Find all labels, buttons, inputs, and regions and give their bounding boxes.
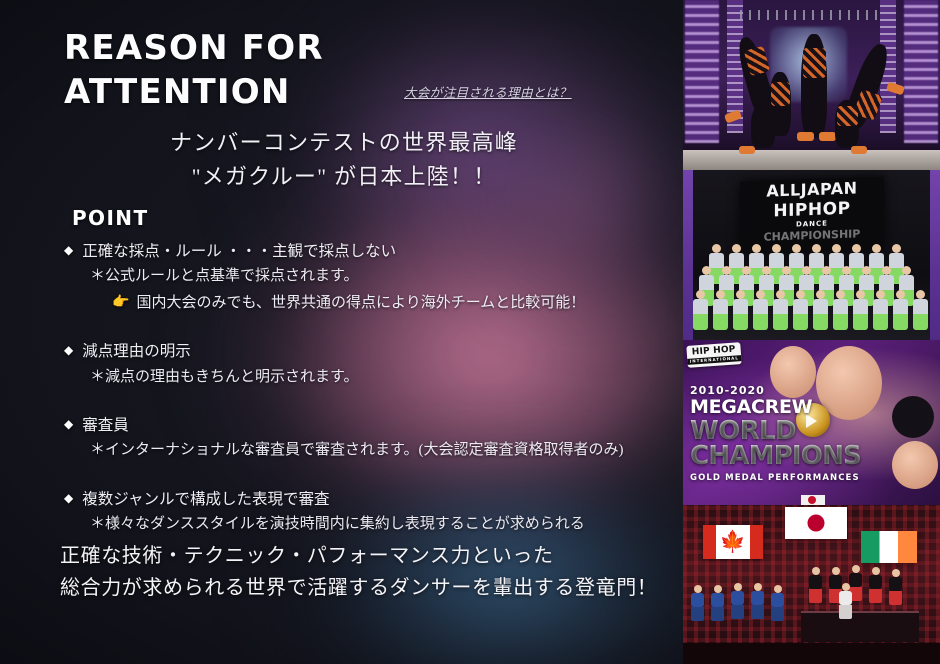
dancer-shirt bbox=[837, 106, 858, 126]
page-title-line1: REASON FOR bbox=[64, 28, 324, 68]
slide-root: REASON FOR ATTENTION 大会が注目される理由とは？ ナンバーコ… bbox=[0, 0, 940, 664]
lead-headline-line1: ナンバーコンテストの世界最高峰 bbox=[64, 126, 624, 160]
point-item-head: ◆ 正確な採点・ルール ・・・主観で採点しない bbox=[64, 240, 674, 263]
point-item-note-text: 国内大会のみでも、世界共通の得点により海外チームと比較可能！ bbox=[136, 292, 585, 315]
lead-headline: ナンバーコンテストの世界最高峰 "メガクルー" が日本上陸！！ bbox=[64, 126, 624, 194]
photo-stage-crew-performance bbox=[683, 0, 940, 170]
point-list: ◆ 正確な採点・ルール ・・・主観で採点しない ＊公式ルールと点基準で採点されま… bbox=[64, 240, 674, 556]
team-member bbox=[873, 290, 888, 330]
diamond-bullet-icon: ◆ bbox=[64, 240, 73, 261]
video-line-megacrew: MEGACREW bbox=[690, 398, 861, 418]
led-panel-right bbox=[904, 0, 938, 143]
team-member-red bbox=[869, 567, 882, 603]
team-member bbox=[813, 290, 828, 330]
canada-flag: 🍁 bbox=[703, 525, 763, 559]
celebrating-dancer-face bbox=[892, 441, 938, 489]
video-line-champions: CHAMPIONS bbox=[690, 444, 861, 469]
team-member bbox=[793, 290, 808, 330]
diamond-bullet-icon: ◆ bbox=[64, 340, 73, 361]
team-member bbox=[693, 290, 708, 330]
video-line-gold-medal: GOLD MEDAL PERFORMANCES bbox=[690, 473, 861, 483]
team-member bbox=[713, 290, 728, 330]
team-member bbox=[913, 290, 928, 330]
side-light-right bbox=[930, 170, 940, 340]
team-member bbox=[853, 290, 868, 330]
team-member bbox=[773, 290, 788, 330]
team-member-blue bbox=[711, 585, 724, 621]
point-item-head-text: 正確な採点・ルール ・・・主観で採点しない bbox=[82, 240, 396, 263]
video-title-block: 2010-2020 MEGACREW WORLD CHAMPIONS GOLD … bbox=[690, 384, 861, 483]
dark-circle-overlay bbox=[892, 396, 934, 438]
point-item: ◆ 審査員 ＊インターナショナルな審査員で審査されます。(大会認定審査資格取得者… bbox=[64, 414, 674, 462]
team-member bbox=[893, 290, 908, 330]
photo-column: ALLJAPAN HIPHOP DANCE CHAMPIONSHIP bbox=[683, 0, 940, 664]
lead-headline-line2: "メガクルー" が日本上陸！！ bbox=[64, 160, 624, 194]
point-item-head-text: 複数ジャンルで構成した表現で審査 bbox=[82, 488, 329, 511]
point-item-head: ◆ 減点理由の明示 bbox=[64, 340, 674, 363]
point-item-sub: ＊様々なダンススタイルを演技時間内に集約し表現することが求められる bbox=[90, 513, 674, 536]
diamond-bullet-icon: ◆ bbox=[64, 488, 73, 509]
dancer-figure bbox=[751, 104, 775, 148]
photo-awards-podium-flags: 🍁 bbox=[683, 505, 940, 664]
team-member-red bbox=[889, 569, 902, 605]
point-item-head: ◆ 審査員 bbox=[64, 414, 674, 437]
led-panel-left bbox=[685, 0, 719, 143]
team-member-blue bbox=[691, 585, 704, 621]
point-item-note: 👉 国内大会のみでも、世界共通の得点により海外チームと比較可能！ bbox=[112, 292, 674, 315]
dancer-shirt bbox=[771, 82, 790, 106]
japan-flag bbox=[785, 507, 847, 539]
team-member-blue bbox=[751, 583, 764, 619]
maple-leaf-icon: 🍁 bbox=[720, 532, 746, 553]
closing-line1: 正確な技術・テクニック・パフォーマンス力といった bbox=[60, 540, 680, 572]
dancer-shoe bbox=[797, 132, 814, 141]
stage-truss bbox=[740, 10, 884, 20]
point-item-head: ◆ 複数ジャンルで構成した表現で審査 bbox=[64, 488, 674, 511]
stage-floor bbox=[683, 150, 940, 170]
championship-banner-text: ALLJAPAN HIPHOP DANCE CHAMPIONSHIP bbox=[740, 178, 884, 245]
ireland-flag bbox=[861, 531, 917, 563]
closing-line2: 総合力が求められる世界で活躍するダンサーを輩出する登竜門！ bbox=[60, 572, 680, 604]
hip-hop-international-logo: HIP HOP INTERNATIONAL bbox=[686, 342, 741, 368]
team-member bbox=[753, 290, 768, 330]
japan-flag-disc-icon bbox=[808, 515, 825, 532]
page-subtitle: 大会が注目される理由とは？ bbox=[404, 82, 572, 101]
side-light-left bbox=[683, 170, 693, 340]
team-member-blue bbox=[771, 585, 784, 621]
point-item-sub: ＊減点の理由もきちんと明示されます。 bbox=[90, 366, 674, 389]
team-member-red bbox=[809, 567, 822, 603]
diamond-bullet-icon: ◆ bbox=[64, 414, 73, 435]
closing-statement: 正確な技術・テクニック・パフォーマンス力といった 総合力が求められる世界で活躍す… bbox=[60, 540, 680, 605]
team-member bbox=[833, 290, 848, 330]
point-item: ◆ 複数ジャンルで構成した表現で審査 ＊様々なダンススタイルを演技時間内に集約し… bbox=[64, 488, 674, 536]
point-item-head-text: 審査員 bbox=[82, 414, 129, 437]
japan-flag-peek-dot bbox=[808, 496, 816, 504]
video-line-world: WORLD bbox=[690, 419, 861, 444]
photo-all-japan-championship-team: ALLJAPAN HIPHOP DANCE CHAMPIONSHIP bbox=[683, 170, 940, 340]
point-item-sub: ＊公式ルールと点基準で採点されます。 bbox=[90, 265, 674, 288]
team-member-blue bbox=[731, 583, 744, 619]
photo-megacrew-world-champions-video[interactable]: HIP HOP INTERNATIONAL 2010-2020 MEGACREW… bbox=[683, 340, 940, 505]
point-section-label: POINT bbox=[72, 206, 148, 230]
team-member-red bbox=[839, 583, 852, 619]
pointing-hand-icon: 👉 bbox=[112, 292, 129, 313]
dancer-shoe bbox=[739, 146, 755, 154]
dancer-shoe bbox=[851, 146, 867, 154]
point-item-sub: ＊インターナショナルな審査員で審査されます。(大会認定審査資格取得者のみ) bbox=[90, 439, 674, 462]
dancer-shirt bbox=[803, 48, 826, 78]
page-title: REASON FOR ATTENTION bbox=[64, 26, 484, 114]
podium-block bbox=[801, 611, 919, 642]
content-column: REASON FOR ATTENTION 大会が注目される理由とは？ ナンバーコ… bbox=[0, 0, 683, 664]
dancer-shoe bbox=[819, 132, 836, 141]
point-item: ◆ 正確な採点・ルール ・・・主観で採点しない ＊公式ルールと点基準で採点されま… bbox=[64, 240, 674, 314]
arena-floor bbox=[683, 643, 940, 664]
team-member bbox=[733, 290, 748, 330]
point-item: ◆ 減点理由の明示 ＊減点の理由もきちんと明示されます。 bbox=[64, 340, 674, 388]
point-item-head-text: 減点理由の明示 bbox=[82, 340, 191, 363]
